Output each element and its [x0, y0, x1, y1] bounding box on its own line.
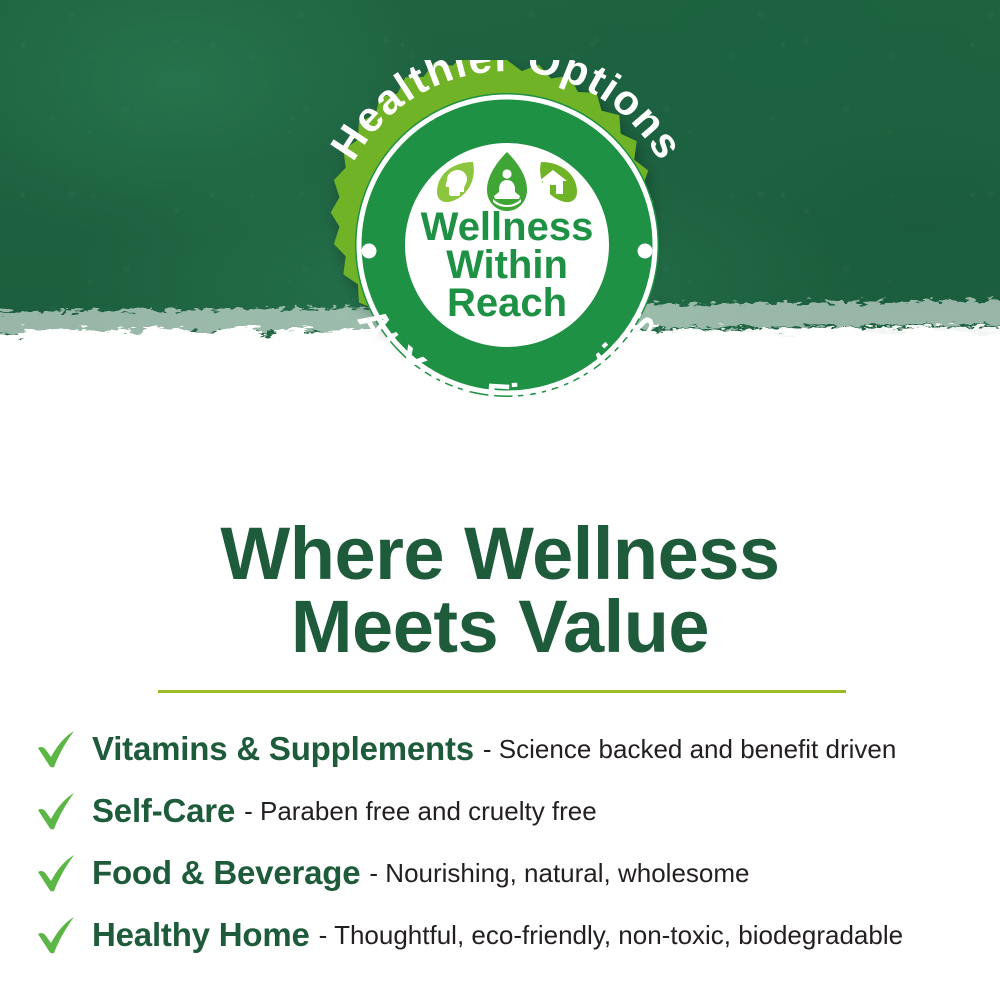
list-item-title: Vitamins & Supplements	[92, 730, 474, 768]
badge-dot-separator-left	[362, 244, 377, 259]
badge-dot-separator-right	[638, 244, 653, 259]
list-item: Self-Care - Paraben free and cruelty fre…	[0, 780, 1000, 842]
check-icon	[34, 912, 80, 958]
promo-poster: Healthier Options At Your Fingertips	[0, 0, 1000, 1000]
list-item-desc: - Paraben free and cruelty free	[244, 796, 597, 827]
list-item-title: Healthy Home	[92, 916, 310, 954]
list-item-desc: - Nourishing, natural, wholesome	[369, 858, 749, 889]
list-item: Healthy Home - Thoughtful, eco-friendly,…	[0, 904, 1000, 966]
list-item-desc: - Science backed and benefit driven	[483, 734, 896, 765]
badge-center-line-3: Reach	[447, 281, 567, 325]
check-icon	[34, 850, 80, 896]
headline-line-2: Meets Value	[0, 591, 1000, 664]
list-item: Vitamins & Supplements - Science backed …	[0, 718, 1000, 780]
list-item-desc: - Thoughtful, eco-friendly, non-toxic, b…	[319, 920, 903, 951]
list-item-title: Food & Beverage	[92, 854, 360, 892]
headline-line-1: Where Wellness	[220, 512, 779, 595]
benefits-list: Vitamins & Supplements - Science backed …	[0, 718, 1000, 966]
check-icon	[34, 726, 80, 772]
list-item: Food & Beverage - Nourishing, natural, w…	[0, 842, 1000, 904]
list-item-title: Self-Care	[92, 792, 235, 830]
divider	[158, 690, 846, 693]
wellness-badge: Healthier Options At Your Fingertips	[292, 60, 722, 430]
check-icon	[34, 788, 80, 834]
page-title: Where Wellness Meets Value	[0, 518, 1000, 663]
